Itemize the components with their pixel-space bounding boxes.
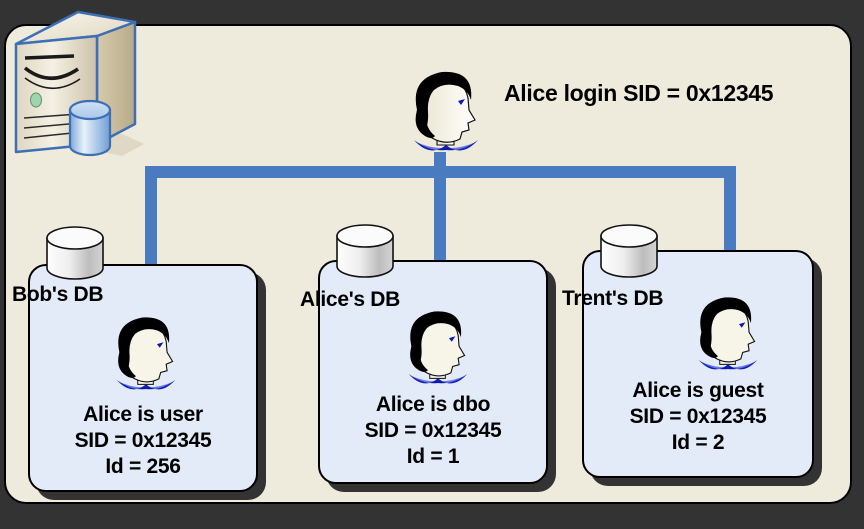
person-head-icon — [396, 66, 496, 162]
sid-line: SID = 0x12345 — [318, 418, 548, 444]
database-cylinder-icon — [42, 224, 108, 282]
database-cylinder-icon — [332, 222, 398, 280]
db-user-caption-bobs: Alice is user SID = 0x12345 Id = 256 — [28, 402, 258, 480]
db-label-bobs: Bob's DB — [12, 283, 103, 307]
database-cylinder-icon — [70, 101, 110, 155]
person-head-icon — [392, 306, 484, 394]
db-label-trents: Trent's DB — [562, 287, 663, 311]
root-user-sid: SID = 0x12345 — [623, 80, 773, 106]
person-head-icon — [682, 292, 774, 380]
sid-line: SID = 0x12345 — [582, 404, 814, 430]
database-cylinder-icon — [596, 222, 662, 280]
role-line: Alice is user — [28, 402, 258, 428]
id-line: Id = 2 — [582, 430, 814, 456]
person-head-icon — [100, 312, 192, 400]
server-tower-icon — [2, 6, 152, 171]
sid-line: SID = 0x12345 — [28, 428, 258, 454]
db-user-caption-trents: Alice is guest SID = 0x12345 Id = 2 — [582, 378, 814, 456]
db-user-caption-alices: Alice is dbo SID = 0x12345 Id = 1 — [318, 392, 548, 470]
role-line: Alice is guest — [582, 378, 814, 404]
root-user-caption: Alice login SID = 0x12345 — [504, 78, 773, 109]
diagram-canvas: Alice login SID = 0x12345 Bob's DB Alice… — [0, 0, 864, 529]
role-line: Alice is dbo — [318, 392, 548, 418]
db-label-alices: Alice's DB — [300, 288, 400, 312]
root-user-name: Alice login — [504, 80, 617, 106]
id-line: Id = 256 — [28, 454, 258, 480]
id-line: Id = 1 — [318, 444, 548, 470]
